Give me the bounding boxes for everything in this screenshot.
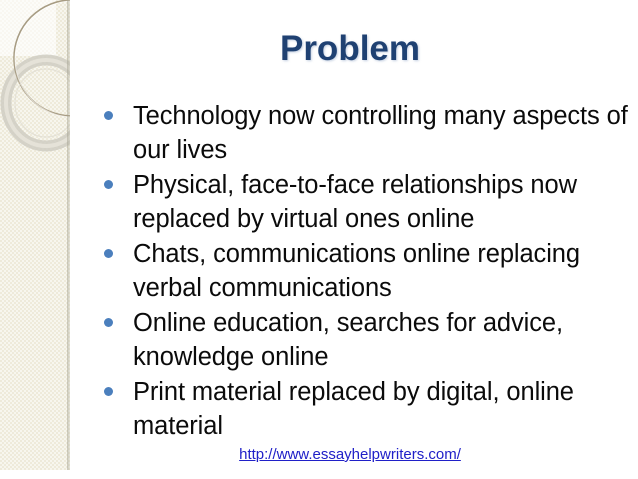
sidebar-right-edge xyxy=(67,0,70,470)
list-item: Online education, searches for advice, k… xyxy=(104,306,630,374)
bullet-dot-icon xyxy=(104,111,113,120)
list-item: Chats, communications online replacing v… xyxy=(104,237,630,305)
bullet-dot-icon xyxy=(104,249,113,258)
bullet-text: Physical, face-to-face relationships now… xyxy=(113,168,630,236)
bullet-dot-icon xyxy=(104,318,113,327)
slide-title: Problem xyxy=(90,30,610,69)
bullet-text: Technology now controlling many aspects … xyxy=(113,99,630,167)
overlapping-circles-ornament-icon xyxy=(0,0,70,470)
footer-source-link[interactable]: http://www.essayhelpwriters.com/ xyxy=(70,446,630,463)
list-item: Print material replaced by digital, onli… xyxy=(104,375,630,443)
bullet-dot-icon xyxy=(104,180,113,189)
bullet-text: Print material replaced by digital, onli… xyxy=(113,375,630,443)
slide-bullet-list: Technology now controlling many aspects … xyxy=(104,99,630,444)
slide-canvas: Problem Technology now controlling many … xyxy=(0,0,638,479)
list-item: Technology now controlling many aspects … xyxy=(104,99,630,167)
slide-sidebar-decoration xyxy=(0,0,70,470)
bullet-text: Chats, communications online replacing v… xyxy=(113,237,630,305)
list-item: Physical, face-to-face relationships now… xyxy=(104,168,630,236)
bullet-text: Online education, searches for advice, k… xyxy=(113,306,630,374)
bullet-dot-icon xyxy=(104,387,113,396)
